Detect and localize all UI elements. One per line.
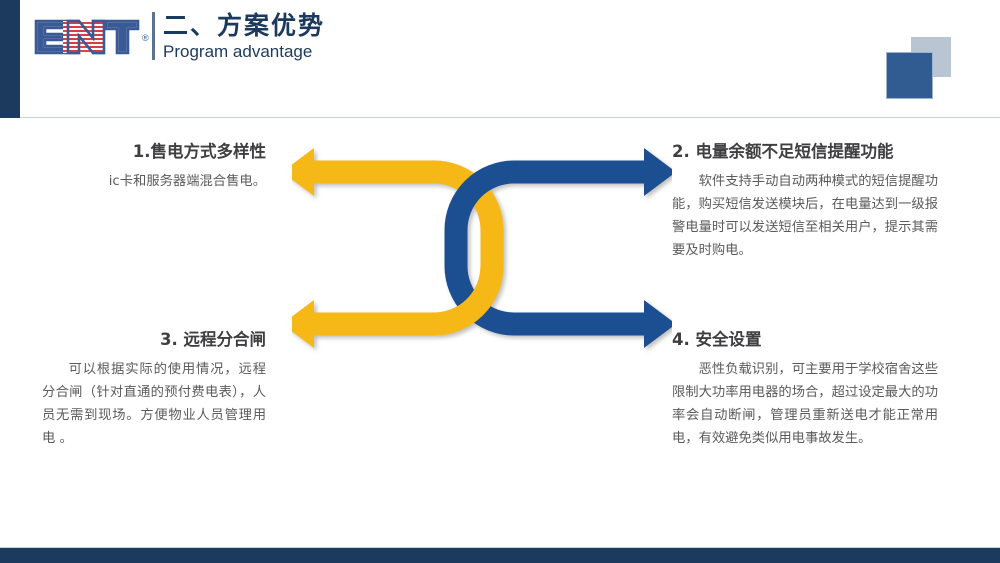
feature-block-4-body: 恶性负载识别，可主要用于学校宿舍这些限制大功率用电器的场合，超过设定最大的功率会… <box>672 359 938 450</box>
feature-block-4-heading: 4. 安全设置 <box>672 326 938 350</box>
ent-logo-icon <box>34 18 140 56</box>
registered-trademark-icon: ® <box>142 34 149 43</box>
brand-logo: ® <box>34 18 140 56</box>
page-title-cn: 二、方案优势 <box>163 10 325 41</box>
feature-block-2-heading: 2. 电量余额不足短信提醒功能 <box>672 138 938 162</box>
feature-block-1-body: ic卡和服务器端混合售电。 <box>42 171 266 194</box>
feature-block-3: 3. 远程分合闸 可以根据实际的使用情况，远程分合闸（针对直通的预付费电表），人… <box>42 326 266 450</box>
feature-block-3-heading: 3. 远程分合闸 <box>42 326 266 350</box>
footer-bar <box>0 548 1000 563</box>
feature-block-2-body: 软件支持手动自动两种模式的短信提醒功能，购买短信发送模块后，在电量达到一级报警电… <box>672 171 938 262</box>
decorative-square-dark <box>886 52 933 99</box>
page-title: 二、方案优势 Program advantage <box>163 10 325 62</box>
feature-block-2: 2. 电量余额不足短信提醒功能 软件支持手动自动两种模式的短信提醒功能，购买短信… <box>672 138 938 262</box>
header-divider-rule <box>20 117 1000 118</box>
feature-block-1-heading: 1.售电方式多样性 <box>42 138 266 162</box>
feature-block-3-body: 可以根据实际的使用情况，远程分合闸（针对直通的预付费电表），人员无需到现场。方便… <box>42 359 266 450</box>
interlocking-arrows-graphic <box>292 128 672 368</box>
page-title-en: Program advantage <box>163 42 325 62</box>
slide-canvas: ® 二、方案优势 Program advantage <box>0 0 1000 563</box>
feature-block-1: 1.售电方式多样性 ic卡和服务器端混合售电。 <box>42 138 266 194</box>
feature-block-4: 4. 安全设置 恶性负载识别，可主要用于学校宿舍这些限制大功率用电器的场合，超过… <box>672 326 938 450</box>
title-divider <box>152 12 155 60</box>
header-left-accent-strip <box>0 0 20 118</box>
